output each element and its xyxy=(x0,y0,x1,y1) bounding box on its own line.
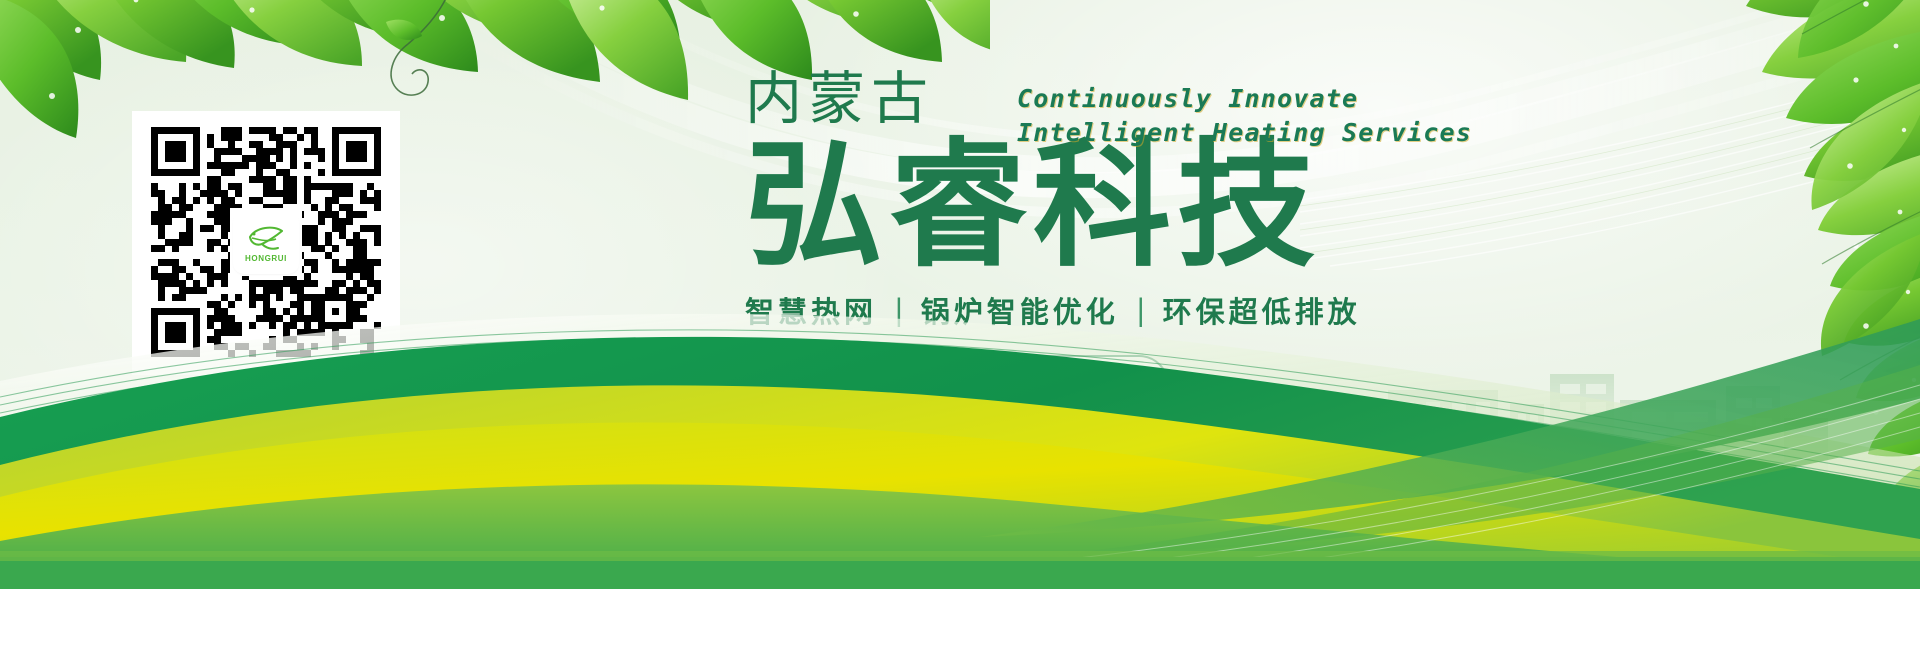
service-separator-1: | xyxy=(894,293,904,327)
page-white-area xyxy=(0,589,1920,659)
service-item-3: 环保超低排放 xyxy=(1163,289,1361,331)
hero-banner: HONGRUI 内蒙古 Continuously Innovate Intell… xyxy=(0,0,1920,589)
banner-page: HONGRUI 内蒙古 Continuously Innovate Intell… xyxy=(0,0,1920,659)
english-tagline-line2: Intelligent Heating Services xyxy=(1017,116,1472,150)
headline-block: 内蒙古 Continuously Innovate Intelligent He… xyxy=(745,70,1745,415)
qr-center-logo: HONGRUI xyxy=(235,214,297,272)
service-list: 智慧热网 | 锅炉智能优化 | 环保超低排放 xyxy=(745,289,1745,331)
service-item-1: 智慧热网 xyxy=(745,289,877,331)
english-tagline-line1: Continuously Innovate xyxy=(1017,84,1358,113)
service-item-2: 锅炉智能优化 xyxy=(921,289,1119,331)
english-tagline: Continuously Innovate Intelligent Heatin… xyxy=(1017,82,1472,150)
company-brand-name: 弘睿科技 xyxy=(745,136,1745,277)
qr-logo-wordmark: HONGRUI xyxy=(245,255,287,263)
qr-code-card[interactable]: HONGRUI xyxy=(132,111,400,375)
leaf-bird-icon xyxy=(246,224,286,254)
positioning-badge: 智慧供热落地服务商 xyxy=(737,355,1169,415)
service-separator-2: | xyxy=(1136,293,1146,327)
